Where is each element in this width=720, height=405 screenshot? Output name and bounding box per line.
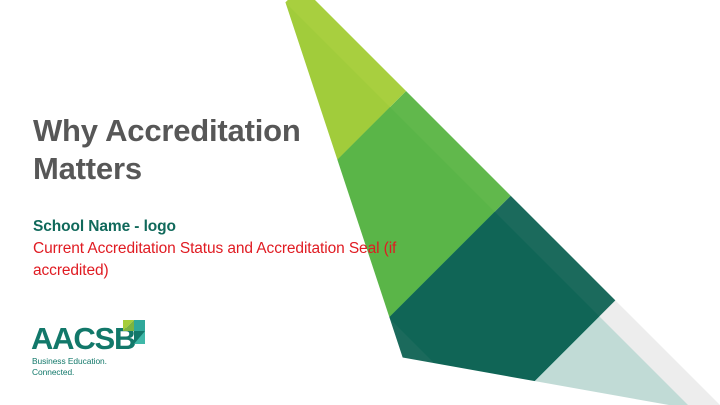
aacsb-tagline: Business Education. Connected. (32, 356, 107, 377)
title-block: Why Accreditation Matters (33, 112, 393, 189)
aacsb-tagline-line-2: Connected. (32, 367, 107, 378)
accreditation-status-placeholder: Current Accreditation Status and Accredi… (33, 238, 443, 282)
logo-row: AACSB (31, 322, 161, 356)
aacsb-logo: AACSB Business Education. Connected. (31, 322, 161, 388)
aacsb-tagline-line-1: Business Education. (32, 356, 107, 367)
school-name-placeholder: School Name - logo (33, 216, 453, 238)
aacsb-wordmark: AACSB (31, 322, 135, 356)
presentation-slide: Why Accreditation Matters School Name - … (0, 0, 720, 405)
page-title: Why Accreditation Matters (33, 112, 393, 189)
subtitle-block: School Name - logo Current Accreditation… (33, 216, 453, 282)
aacsb-square-mark-icon (123, 320, 145, 344)
